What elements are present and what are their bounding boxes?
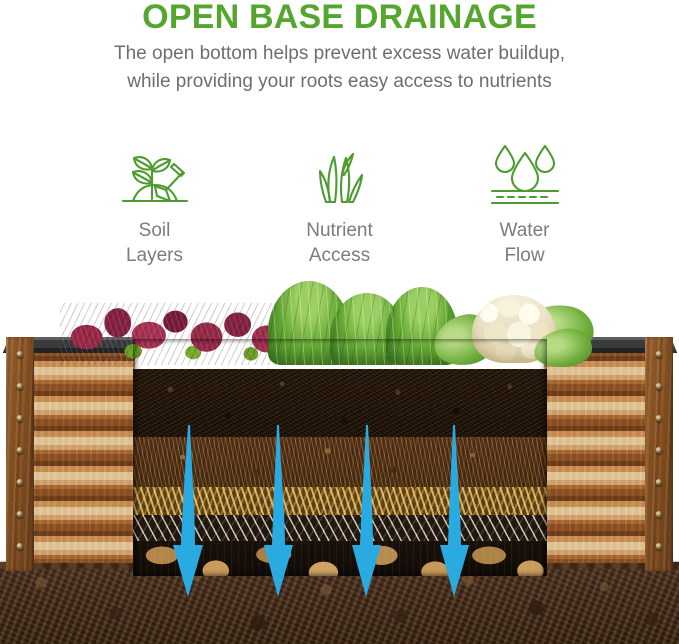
water-flow-arrow [350, 425, 384, 597]
feature-list: Soil Layers Nutrient Access [0, 138, 679, 273]
feature-soil-layers: Soil Layers [67, 138, 242, 268]
rivet-icon [656, 543, 663, 550]
rivet-icon [656, 383, 663, 390]
feature-label: Water Flow [500, 218, 550, 268]
corner-post-right [645, 337, 673, 571]
water-droplets-icon [484, 138, 566, 210]
page-subtitle: The open bottom helps prevent excess wat… [0, 40, 679, 96]
water-flow-arrow [261, 425, 295, 597]
rivet-icon [17, 383, 24, 390]
rivet-icon [17, 351, 24, 358]
water-flow-arrow [437, 425, 471, 597]
page-title: OPEN BASE DRAINAGE [0, 0, 679, 37]
grass-blades-icon [305, 138, 375, 210]
subtitle-line-1: The open bottom helps prevent excess wat… [0, 40, 679, 68]
rivet-icon [17, 447, 24, 454]
subtitle-line-2: while providing your roots easy access t… [0, 68, 679, 96]
feature-label: Soil Layers [126, 218, 183, 268]
rivet-icon [656, 479, 663, 486]
raised-garden-bed-scene [0, 277, 679, 644]
rivet-icon [17, 479, 24, 486]
rivet-icon [656, 351, 663, 358]
feature-label: Nutrient Access [306, 218, 373, 268]
rivet-icon [656, 447, 663, 454]
rivet-icon [656, 511, 663, 518]
promo-image: OPEN BASE DRAINAGE The open bottom helps… [0, 0, 679, 644]
feature-nutrient-access: Nutrient Access [252, 138, 427, 268]
rivet-icon [17, 543, 24, 550]
corner-post-left [6, 337, 34, 571]
rivet-icon [656, 415, 663, 422]
rivet-icon [17, 415, 24, 422]
water-flow-arrow [172, 425, 206, 597]
rivet-icon [17, 511, 24, 518]
seedling-shovel-icon [119, 138, 191, 210]
feature-water-flow: Water Flow [437, 138, 612, 268]
